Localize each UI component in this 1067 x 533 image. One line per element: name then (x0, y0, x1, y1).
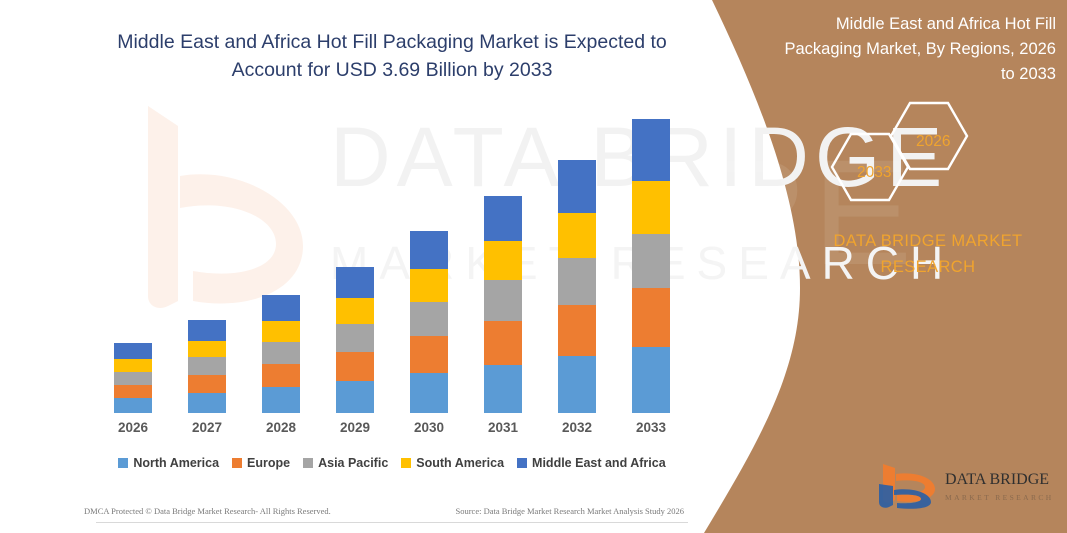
x-axis-tick-label: 2029 (318, 420, 392, 435)
stacked-bar (484, 196, 522, 413)
bar-segment (410, 302, 448, 336)
bar-column (244, 111, 318, 413)
legend-item[interactable]: Europe (232, 456, 290, 470)
legend-item[interactable]: North America (118, 456, 219, 470)
bar-segment (410, 373, 448, 413)
stacked-bar (632, 119, 670, 413)
panel-brand-name: DATA BRIDGE MARKET RESEARCH (800, 228, 1056, 281)
bar-segment (114, 385, 152, 399)
infographic-canvas: DATA BRIDGE MARKET RESEARCH Middle East … (0, 0, 1067, 533)
bar-segment (262, 387, 300, 413)
panel-brand-line2: RESEARCH (881, 258, 976, 276)
bar-segment (410, 336, 448, 373)
hexagon-2033-label: 2033 (857, 164, 891, 182)
bar-segment (188, 341, 226, 357)
bar-segment (336, 352, 374, 381)
panel-title: Middle East and Africa Hot Fill Packagin… (770, 12, 1056, 86)
legend-label: Asia Pacific (318, 456, 388, 470)
x-axis-tick-label: 2027 (170, 420, 244, 435)
bar-segment (336, 267, 374, 298)
page-title: Middle East and Africa Hot Fill Packagin… (96, 28, 688, 85)
chart-plot-area (96, 111, 688, 413)
bar-column (170, 111, 244, 413)
legend-item[interactable]: Middle East and Africa (517, 456, 666, 470)
x-axis-tick-label: 2031 (466, 420, 540, 435)
x-axis-tick-label: 2032 (540, 420, 614, 435)
x-axis-tick-label: 2028 (244, 420, 318, 435)
bar-segment (262, 342, 300, 364)
bar-segment (114, 359, 152, 372)
legend-item[interactable]: South America (401, 456, 504, 470)
logo-text-sub: MARKET RESEARCH (945, 493, 1053, 502)
bar-segment (262, 321, 300, 342)
bar-segment (114, 372, 152, 385)
bar-segment (114, 343, 152, 359)
data-bridge-logo-icon: DATA BRIDGE MARKET RESEARCH (873, 462, 1053, 510)
x-axis-tick-label: 2026 (96, 420, 170, 435)
bar-segment (188, 320, 226, 341)
stacked-bar (114, 343, 152, 413)
bar-segment (410, 231, 448, 269)
bar-column (318, 111, 392, 413)
stacked-bar (410, 231, 448, 413)
bar-segment (558, 356, 596, 413)
hexagon-badges: 2026 2033 (820, 95, 1010, 210)
bar-column (540, 111, 614, 413)
legend-swatch-icon (118, 458, 128, 468)
x-axis-tick-label: 2033 (614, 420, 688, 435)
bar-segment (336, 298, 374, 325)
stacked-bar-chart (96, 110, 688, 413)
legend-item[interactable]: Asia Pacific (303, 456, 388, 470)
bar-segment (632, 288, 670, 347)
bar-segment (262, 364, 300, 388)
legend-swatch-icon (303, 458, 313, 468)
bar-segment (558, 160, 596, 212)
footer-copyright: DMCA Protected © Data Bridge Market Rese… (84, 506, 331, 516)
bar-segment (336, 324, 374, 351)
legend-label: Europe (247, 456, 290, 470)
hexagon-shapes-icon (820, 95, 1010, 210)
bar-column (96, 111, 170, 413)
legend-swatch-icon (401, 458, 411, 468)
panel-brand-line1: DATA BRIDGE MARKET (833, 232, 1022, 250)
legend-swatch-icon (517, 458, 527, 468)
bar-segment (484, 321, 522, 365)
bar-segment (632, 234, 670, 288)
bar-segment (114, 398, 152, 413)
bar-segment (484, 365, 522, 414)
bar-column (614, 111, 688, 413)
bar-segment (188, 375, 226, 393)
legend-label: North America (133, 456, 219, 470)
legend-label: South America (416, 456, 504, 470)
legend-swatch-icon (232, 458, 242, 468)
bar-segment (558, 305, 596, 356)
bar-segment (484, 241, 522, 280)
logo-text-main: DATA BRIDGE (945, 471, 1049, 488)
bar-segment (188, 357, 226, 374)
bar-segment (262, 295, 300, 321)
stacked-bar (262, 295, 300, 413)
bar-segment (558, 213, 596, 259)
chart-legend: North AmericaEuropeAsia PacificSouth Ame… (96, 456, 688, 470)
stacked-bar (558, 160, 596, 413)
bar-column (392, 111, 466, 413)
bar-column (466, 111, 540, 413)
x-axis-line (96, 522, 688, 523)
bar-segment (410, 269, 448, 302)
bar-segment (484, 280, 522, 320)
bar-segment (484, 196, 522, 241)
bar-segment (336, 381, 374, 413)
footer: DMCA Protected © Data Bridge Market Rese… (84, 506, 684, 516)
bar-segment (558, 258, 596, 305)
hexagon-2026-label: 2026 (916, 133, 950, 151)
bar-segment (188, 393, 226, 413)
legend-label: Middle East and Africa (532, 456, 666, 470)
x-axis-tick-label: 2030 (392, 420, 466, 435)
bar-segment (632, 181, 670, 234)
footer-source: Source: Data Bridge Market Research Mark… (455, 506, 684, 516)
x-axis-labels: 20262027202820292030203120322033 (96, 420, 688, 435)
bar-segment (632, 119, 670, 180)
bar-segment (632, 347, 670, 413)
stacked-bar (336, 267, 374, 413)
stacked-bar (188, 320, 226, 413)
